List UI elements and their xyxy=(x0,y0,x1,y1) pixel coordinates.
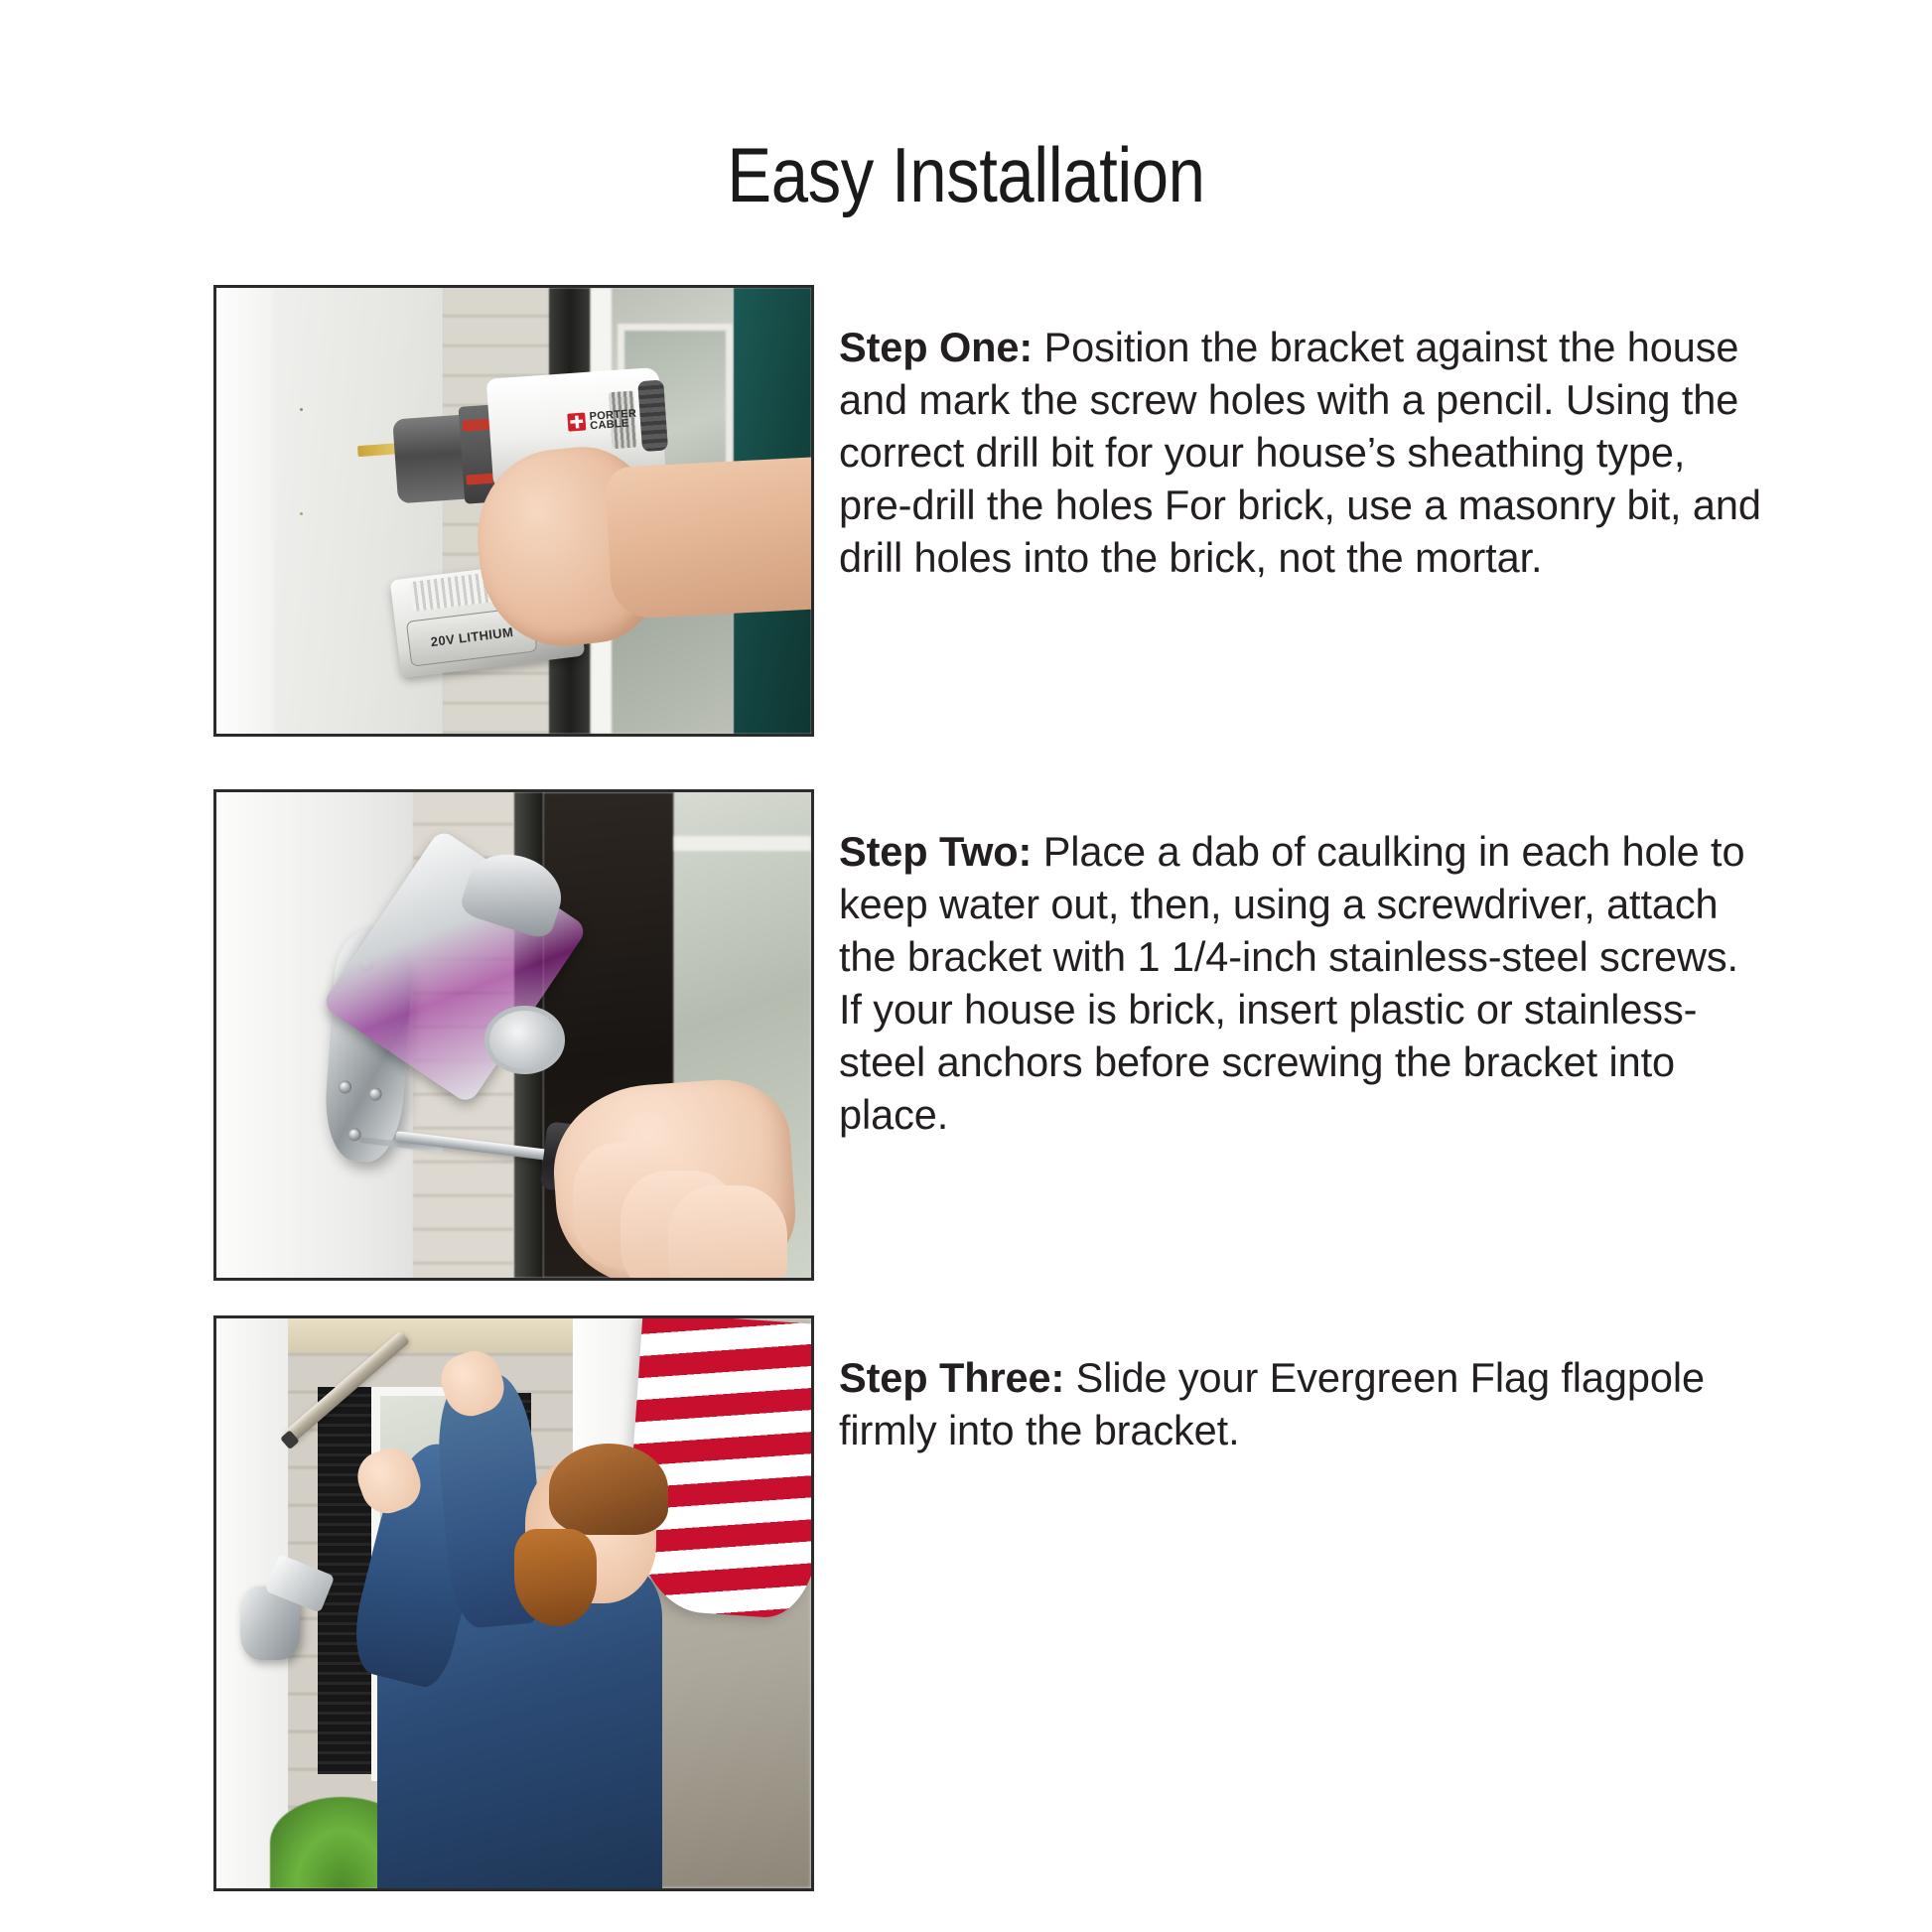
step-three-text: Step Three: Slide your Evergreen Flag fl… xyxy=(839,1351,1762,1456)
step-three-label: Step Three: xyxy=(839,1354,1064,1401)
step-two-text: Step Two: Place a dab of caulking in eac… xyxy=(839,825,1762,1141)
flagpole-insertion-photo xyxy=(216,1318,811,1888)
brand-text: PORTER CABLE xyxy=(588,408,636,430)
forearm xyxy=(605,456,811,620)
screw-hole xyxy=(368,1087,382,1101)
battery-label-text: 20V LITHIUM xyxy=(430,623,514,648)
wall-panel xyxy=(216,288,276,734)
beard xyxy=(514,1529,598,1626)
step-one-text: Step One: Position the bracket against t… xyxy=(839,321,1762,584)
hair xyxy=(549,1444,668,1535)
window-mullion xyxy=(674,836,811,851)
step-one-image: PORTER CABLE 20V LITHIUM xyxy=(213,285,814,737)
porter-cable-logo: PORTER CABLE xyxy=(566,408,636,432)
brand-line-2: CABLE xyxy=(589,416,628,431)
step-two-image xyxy=(213,789,814,1281)
step-three-image xyxy=(213,1315,814,1891)
screw-hole xyxy=(339,1080,352,1094)
installation-guide-page: Easy Installation xyxy=(0,0,1932,1932)
motor-cap xyxy=(637,380,668,452)
drill-photo: PORTER CABLE 20V LITHIUM xyxy=(216,288,811,734)
bracket-ring xyxy=(484,1006,566,1074)
page-title: Easy Installation xyxy=(135,135,1797,216)
porter-cable-cross-icon xyxy=(566,412,585,431)
finger xyxy=(668,1185,787,1278)
bracket-screwdriver-photo xyxy=(216,792,811,1278)
flagpole-rod xyxy=(282,1330,410,1445)
step-two-label: Step Two: xyxy=(839,828,1032,875)
step-one-label: Step One: xyxy=(839,324,1033,370)
